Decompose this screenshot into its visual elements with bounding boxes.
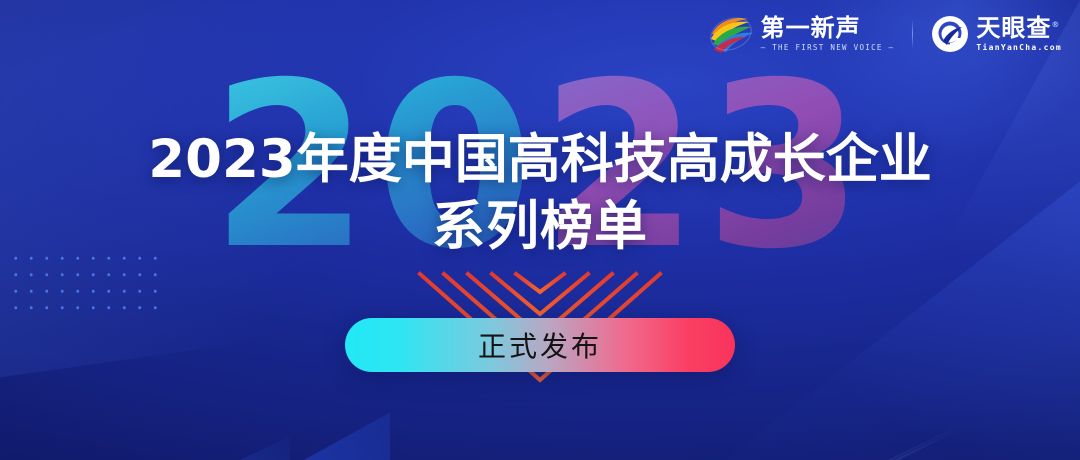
headline-line-1: 2023年度中国高科技高成长企业	[0, 130, 1080, 190]
logo-diyixinsheng-cn: 第一新声	[761, 16, 895, 40]
logo-tianyancha-en: TianYanCha.com	[976, 44, 1062, 52]
release-cta-label: 正式发布	[478, 325, 602, 365]
headline-line-2: 系列榜单	[0, 196, 1080, 258]
logo-divider	[912, 19, 913, 49]
logo-tianyancha-text: 天眼查® TianYanCha.com	[976, 16, 1062, 52]
logo-diyixinsheng[interactable]: 第一新声 — THE FIRST NEW VOICE —	[708, 14, 895, 54]
release-cta-pill[interactable]: 正式发布	[345, 318, 735, 372]
swoosh-logo-icon	[708, 14, 754, 54]
logo-diyixinsheng-en: — THE FIRST NEW VOICE —	[761, 44, 895, 52]
logo-tianyancha-cn-label: 天眼查	[976, 14, 1051, 42]
logo-diyixinsheng-text: 第一新声 — THE FIRST NEW VOICE —	[761, 16, 895, 52]
logo-tianyancha[interactable]: 天眼查® TianYanCha.com	[931, 15, 1062, 53]
trademark-icon: ®	[1051, 20, 1060, 29]
logo-bar: 第一新声 — THE FIRST NEW VOICE — 天眼查® TianYa…	[708, 14, 1062, 54]
eye-lens-logo-icon	[931, 15, 969, 53]
headline-block: 2023年度中国高科技高成长企业 系列榜单	[0, 130, 1080, 258]
poster-banner: 2023 第一新声 — THE FIRST NEW VOICE —	[0, 0, 1080, 460]
logo-tianyancha-cn: 天眼查®	[976, 16, 1062, 40]
